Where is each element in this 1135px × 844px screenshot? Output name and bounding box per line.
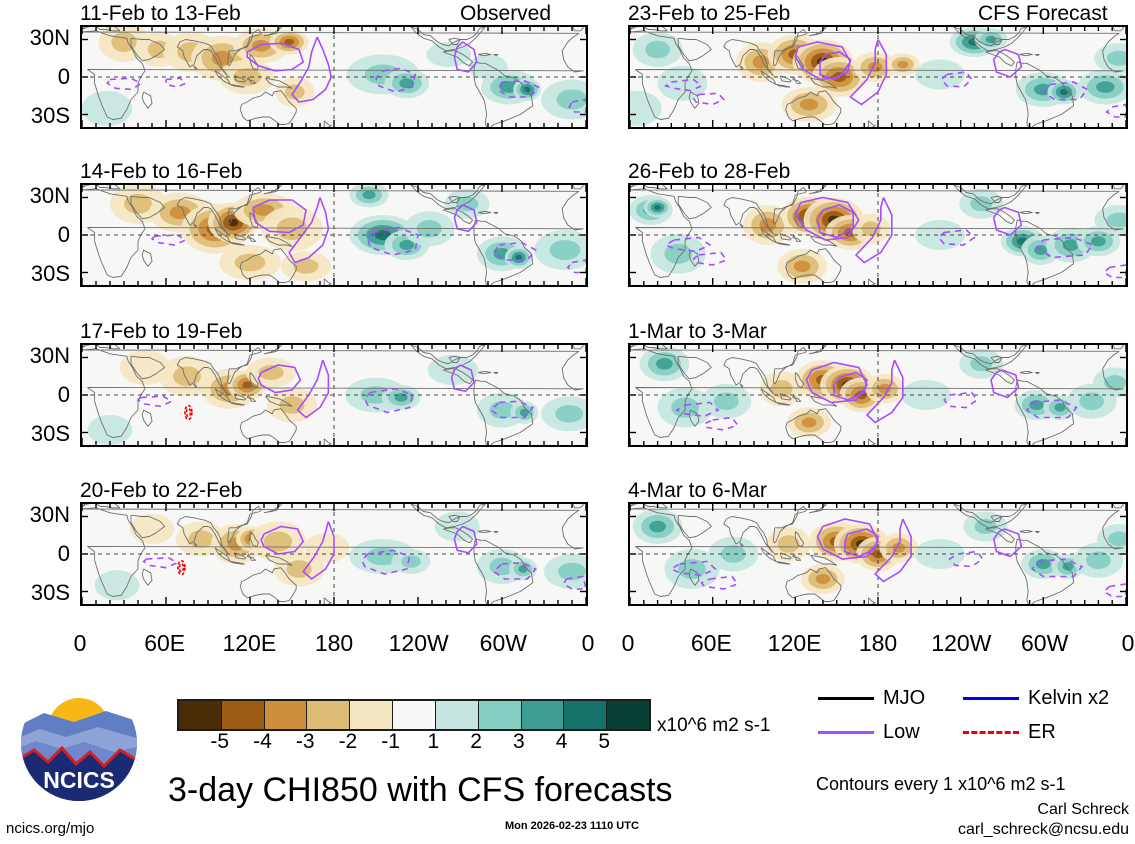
colorbar-swatch [436, 701, 479, 729]
colorbar-swatch [179, 701, 222, 729]
legend-line-swatch [818, 697, 874, 700]
y-axis-tick-label: 30N [0, 27, 70, 49]
panel-title: 17-Feb to 19-Feb [80, 321, 242, 342]
panel-title: 23-Feb to 25-Feb [628, 3, 790, 24]
column-header: Observed [460, 3, 551, 24]
map-canvas [82, 27, 586, 127]
y-axis-tick-label: 30S [0, 582, 70, 604]
x-axis-tick-label: 60E [120, 632, 210, 655]
author-name: Carl Schreck [834, 801, 1129, 819]
legend-item: MJO [818, 688, 925, 708]
colorbar-swatch [350, 701, 393, 729]
y-axis-tick-label: 0 [0, 384, 70, 406]
y-axis-tick-label: 30S [0, 105, 70, 127]
map-plot-area [80, 502, 588, 606]
map-plot-area [80, 343, 588, 447]
author-email: carl_schreck@ncsu.edu [834, 821, 1129, 839]
x-axis-tick-label: 60W [1000, 632, 1090, 655]
x-axis-tick-label: 0 [1083, 632, 1135, 655]
map-plot-area [628, 343, 1128, 447]
map-plot-area [80, 183, 588, 287]
colorbar-units-label: x10^6 m2 s-1 [657, 716, 770, 735]
map-canvas [630, 345, 1126, 445]
legend-line-swatch [818, 731, 874, 734]
y-axis-tick-label: 0 [0, 543, 70, 565]
map-plot-area [628, 25, 1128, 129]
colorbar-swatch [522, 701, 565, 729]
ncics-logo-svg: NCICS [18, 682, 140, 804]
column-header: CFS Forecast [978, 3, 1108, 24]
x-axis-tick-label: 120E [204, 632, 294, 655]
map-canvas [82, 345, 586, 445]
colorbar-tick-label: 5 [579, 731, 629, 752]
x-axis-tick-label: 120E [750, 632, 840, 655]
y-axis-tick-label: 30N [0, 504, 70, 526]
colorbar [177, 699, 651, 731]
timestamp: Mon 2026-02-23 1110 UTC [505, 821, 639, 832]
main-title: 3-day CHI850 with CFS forecasts [168, 773, 673, 807]
legend-item: ER [963, 722, 1056, 742]
y-axis-tick-label: 0 [0, 224, 70, 246]
y-axis-tick-label: 30N [0, 345, 70, 367]
x-axis-tick-label: 180 [289, 632, 379, 655]
legend-label: MJO [883, 688, 925, 708]
contour-interval-note: Contours every 1 x10^6 m2 s-1 [816, 775, 1066, 793]
legend-label: Kelvin x2 [1028, 688, 1109, 708]
colorbar-swatch [307, 701, 350, 729]
y-axis-tick-label: 30S [0, 423, 70, 445]
panel-title: 20-Feb to 22-Feb [80, 480, 242, 501]
legend-label: Low [883, 722, 920, 742]
x-axis-tick-label: 60W [458, 632, 548, 655]
map-canvas [630, 504, 1126, 604]
panel-title: 14-Feb to 16-Feb [80, 161, 242, 182]
map-canvas [82, 504, 586, 604]
x-axis-tick-label: 120W [374, 632, 464, 655]
legend-item: Kelvin x2 [963, 688, 1109, 708]
colorbar-swatch [265, 701, 308, 729]
legend-item: Low [818, 722, 920, 742]
map-plot-area [628, 183, 1128, 287]
x-axis-tick-label: 180 [833, 632, 923, 655]
colorbar-swatch [564, 701, 607, 729]
legend-label: ER [1028, 722, 1056, 742]
map-canvas [630, 185, 1126, 285]
panel-title: 26-Feb to 28-Feb [628, 161, 790, 182]
colorbar-swatch [479, 701, 522, 729]
x-axis-tick-label: 0 [35, 632, 125, 655]
colorbar-swatch [222, 701, 265, 729]
legend-line-swatch [963, 697, 1019, 700]
ncics-logo-text: NCICS [43, 767, 115, 793]
legend-line-swatch [963, 731, 1019, 734]
y-axis-tick-label: 30N [0, 185, 70, 207]
map-plot-area [628, 502, 1128, 606]
map-canvas [630, 27, 1126, 127]
y-axis-tick-label: 30S [0, 263, 70, 285]
map-canvas [82, 185, 586, 285]
colorbar-swatch [607, 701, 649, 729]
site-url[interactable]: ncics.org/mjo [6, 821, 94, 836]
x-axis-tick-label: 0 [583, 632, 673, 655]
x-axis-tick-label: 120W [916, 632, 1006, 655]
y-axis-tick-label: 0 [0, 66, 70, 88]
map-plot-area [80, 25, 588, 129]
panel-title: 11-Feb to 13-Feb [80, 3, 241, 24]
panel-title: 1-Mar to 3-Mar [628, 321, 767, 342]
panel-title: 4-Mar to 6-Mar [628, 480, 767, 501]
ncics-logo: NCICS [18, 682, 140, 804]
colorbar-swatch [393, 701, 436, 729]
x-axis-tick-label: 60E [666, 632, 756, 655]
